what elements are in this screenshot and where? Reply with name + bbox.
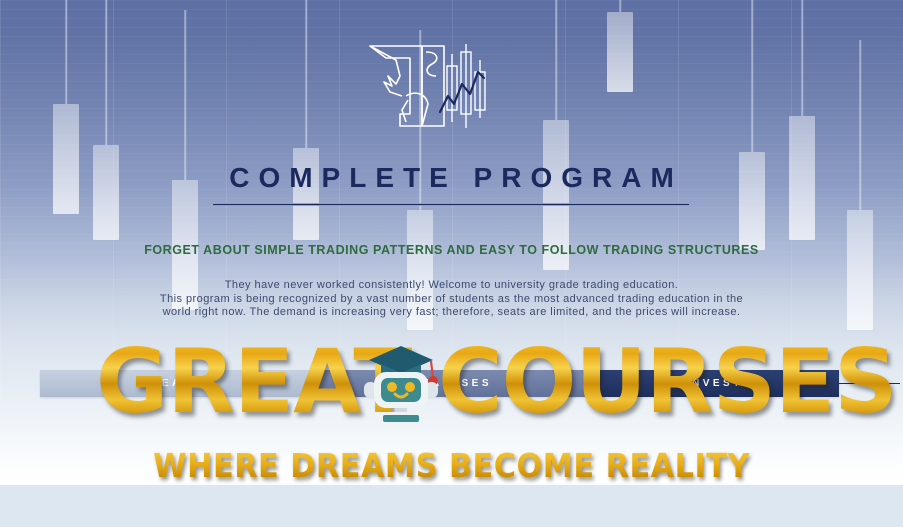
- paragraph-line-2: This program is being recognized by a va…: [92, 293, 811, 307]
- page-title: COMPLETE PROGRAM: [0, 162, 903, 194]
- paragraph-line-1: They have never worked consistently! Wel…: [92, 279, 811, 293]
- paragraph-line-3: world right now. The demand is increasin…: [92, 306, 811, 320]
- candlestick-body: [847, 210, 873, 330]
- candlestick-wick: [801, 0, 803, 116]
- candlestick-wick: [555, 0, 557, 120]
- process-step-bar: LEARN ANALYSES INVEST: [40, 370, 860, 397]
- brand-logo-icon: [366, 38, 491, 133]
- candlestick-wick: [305, 0, 307, 148]
- step-item-learn[interactable]: LEARN: [40, 370, 313, 397]
- step-item-invest[interactable]: INVEST: [586, 370, 839, 397]
- title-underline: [213, 203, 689, 206]
- candlestick-wick: [65, 0, 67, 104]
- candlestick-wick: [619, 0, 621, 12]
- step-item-analyses[interactable]: ANALYSES: [313, 370, 586, 397]
- candlestick-wick: [105, 0, 107, 145]
- candlestick-body: [607, 12, 633, 92]
- step-bar-tail-line: [839, 383, 900, 384]
- page-bottom-strip: [0, 485, 903, 527]
- subtitle-text: FORGET ABOUT SIMPLE TRADING PATTERNS AND…: [0, 243, 903, 257]
- hero-banner: COMPLETE PROGRAM FORGET ABOUT SIMPLE TRA…: [0, 0, 903, 485]
- candlestick-wick: [184, 10, 186, 180]
- description-paragraph: They have never worked consistently! Wel…: [92, 279, 811, 320]
- landing-page: COMPLETE PROGRAM FORGET ABOUT SIMPLE TRA…: [0, 0, 903, 527]
- candlestick-body: [53, 104, 79, 214]
- candlestick-wick: [751, 0, 753, 152]
